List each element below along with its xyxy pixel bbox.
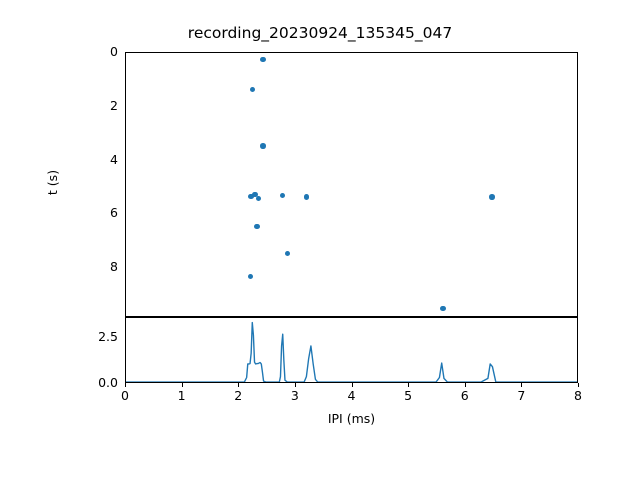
x-tick-label: 2 <box>234 389 242 403</box>
x-tick-mark <box>408 383 409 387</box>
scatter-point <box>304 194 309 199</box>
x-tick-label: 1 <box>178 389 186 403</box>
scatter-ytick-label: 8 <box>110 260 118 274</box>
scatter-ytick-mark <box>125 214 126 215</box>
x-tick-mark <box>182 383 183 387</box>
histogram-trace <box>126 318 577 382</box>
scatter-ytick-label: 6 <box>110 206 118 220</box>
scatter-axes <box>125 52 578 317</box>
histogram-ytick-labels: 0.02.5 <box>70 317 118 383</box>
x-axis-label: IPI (ms) <box>125 411 578 426</box>
x-tick-mark <box>521 383 522 387</box>
x-tick-mark <box>295 383 296 387</box>
matplotlib-figure: recording_20230924_135345_047 02468 t (s… <box>0 0 640 480</box>
scatter-point <box>260 57 265 62</box>
scatter-point <box>250 87 255 92</box>
x-tick-mark <box>578 383 579 387</box>
scatter-ytick-mark <box>125 53 126 54</box>
y-axis-label: t (s) <box>45 170 60 195</box>
scatter-ytick-mark <box>125 161 126 162</box>
scatter-point <box>260 143 265 148</box>
scatter-point <box>254 224 259 229</box>
x-tick-label: 5 <box>404 389 412 403</box>
scatter-ytick-labels: 02468 <box>78 52 118 317</box>
histogram-ytick-label: 2.5 <box>98 330 118 344</box>
x-tick-mark <box>465 383 466 387</box>
figure-title: recording_20230924_135345_047 <box>0 24 640 42</box>
scatter-point <box>440 306 445 311</box>
scatter-point <box>285 251 290 256</box>
scatter-ytick-mark <box>125 107 126 108</box>
x-tick-label: 7 <box>517 389 525 403</box>
histogram-ytick-label: 0.0 <box>98 376 118 390</box>
scatter-point <box>280 193 285 198</box>
scatter-point <box>256 196 261 201</box>
histogram-axes <box>125 317 578 383</box>
scatter-ytick-label: 0 <box>110 45 118 59</box>
x-tick-label: 0 <box>121 389 129 403</box>
x-tick-label: 4 <box>348 389 356 403</box>
x-tick-label: 8 <box>574 389 582 403</box>
scatter-point <box>248 274 253 279</box>
scatter-ytick-label: 2 <box>110 99 118 113</box>
x-tick-label: 6 <box>461 389 469 403</box>
x-tick-mark <box>238 383 239 387</box>
scatter-ytick-mark <box>125 268 126 269</box>
scatter-ytick-label: 4 <box>110 153 118 167</box>
x-tick-labels: 012345678 <box>125 389 578 407</box>
scatter-point <box>489 194 494 199</box>
x-tick-mark <box>352 383 353 387</box>
x-tick-label: 3 <box>291 389 299 403</box>
scatter-ytick-marks <box>126 53 577 316</box>
x-tick-mark <box>125 383 126 387</box>
